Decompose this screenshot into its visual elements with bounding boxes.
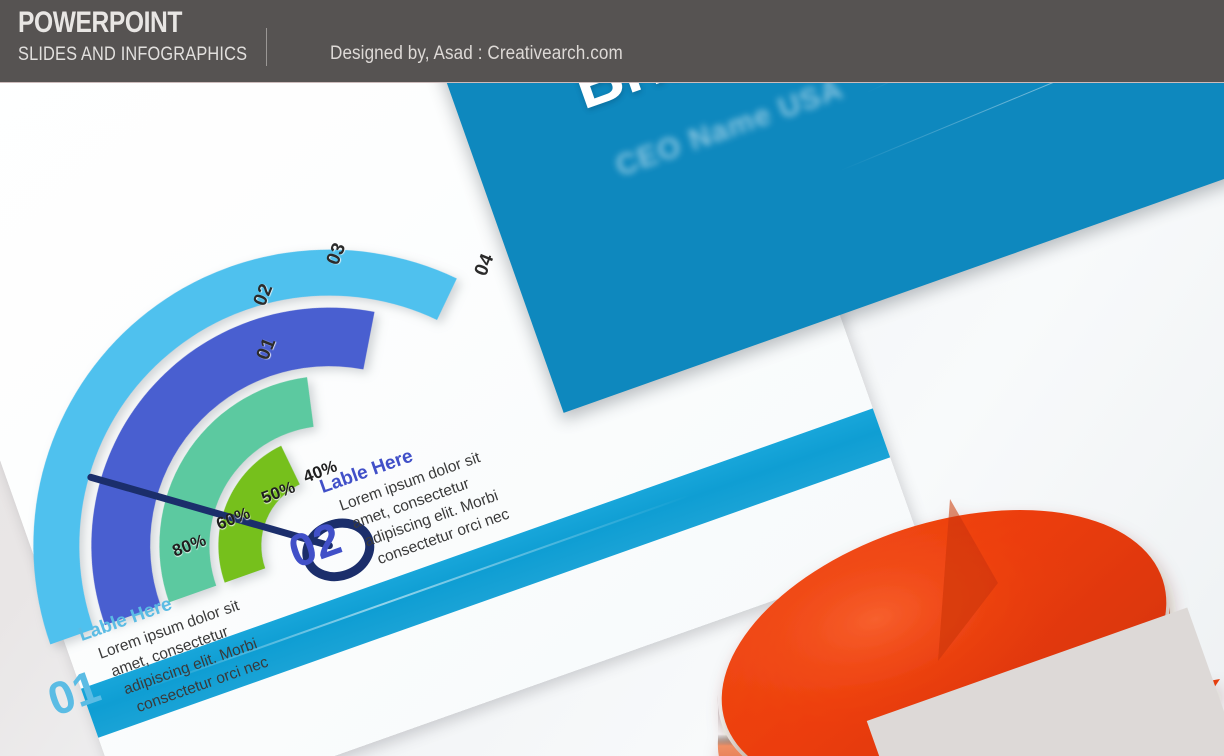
page-header: POWERPOINT SLIDES AND INFOGRAPHICS Desig…: [0, 0, 1224, 83]
header-divider: [266, 28, 267, 66]
slide-photo: 01 02 03 04 40% 50% 60% 80% 02 Lable Her…: [0, 83, 1224, 756]
title-slide-swoosh: [889, 83, 1224, 267]
screenshot-root: POWERPOINT SLIDES AND INFOGRAPHICS Desig…: [0, 0, 1224, 756]
page-subtitle: SLIDES AND INFOGRAPHICS: [18, 44, 247, 66]
page-title: POWERPOINT: [18, 6, 182, 40]
header-credit: Designed by, Asad : Creativearch.com: [330, 43, 623, 65]
